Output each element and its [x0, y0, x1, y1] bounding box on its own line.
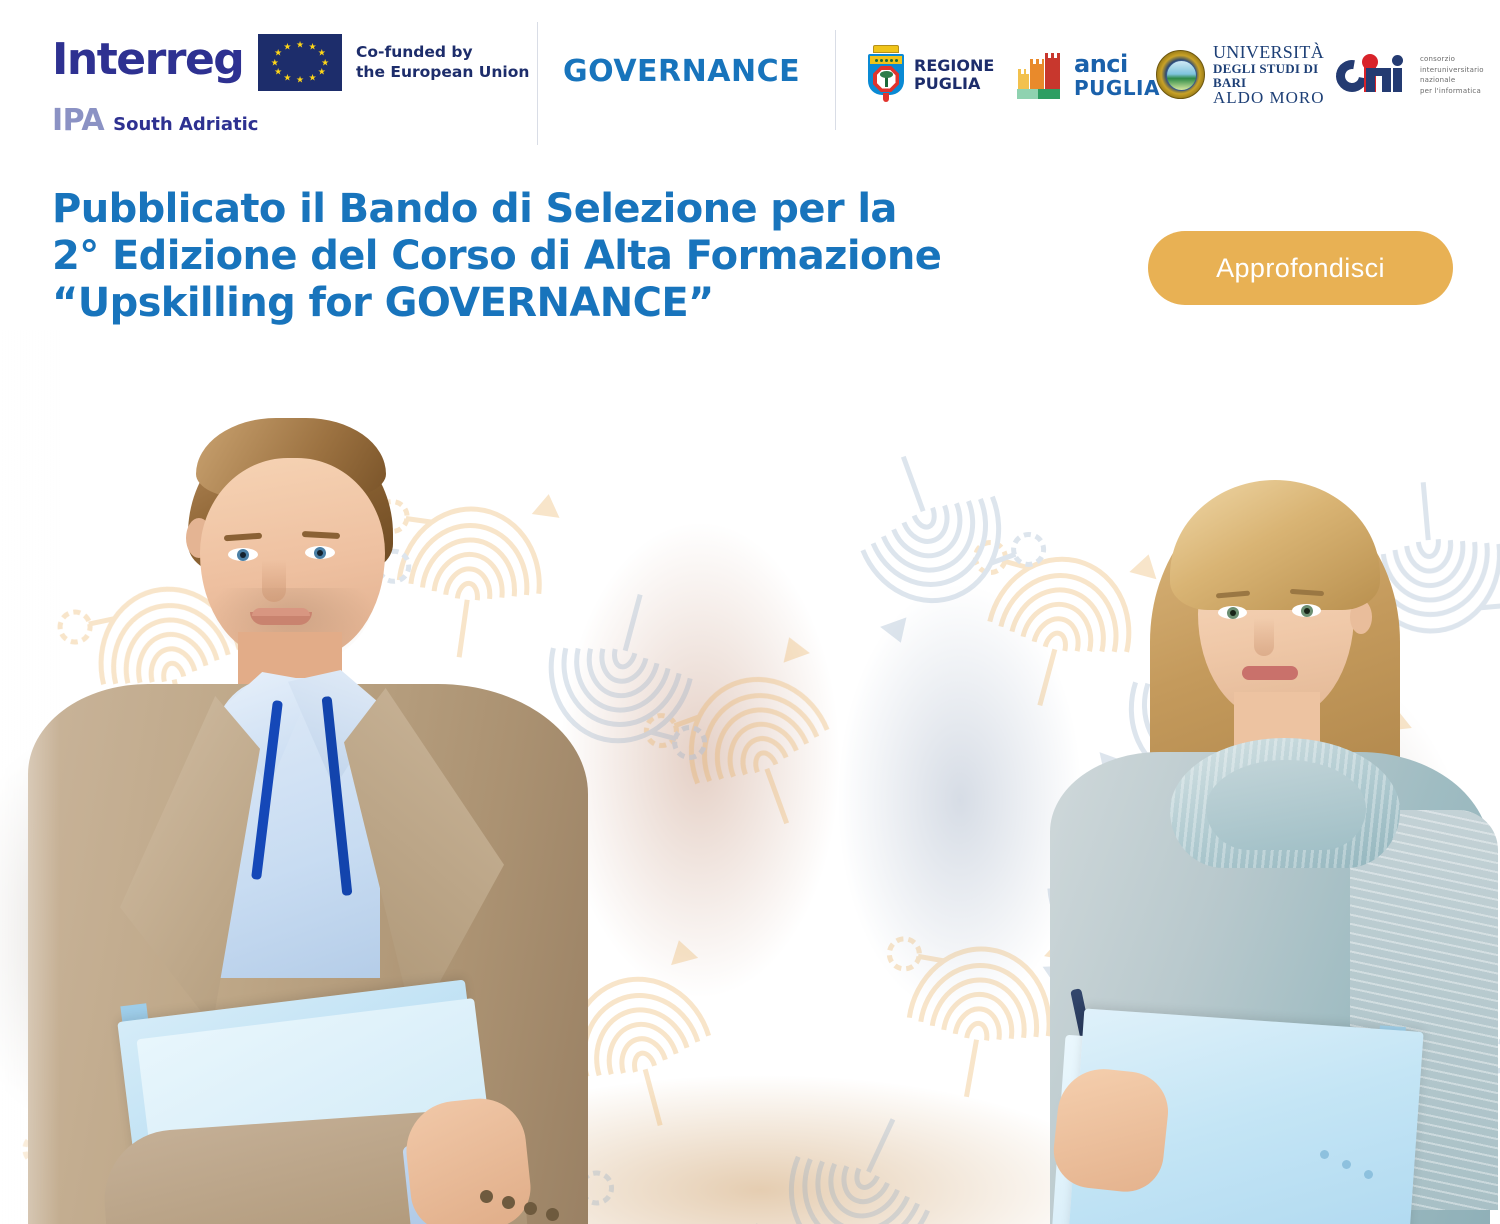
approfondisci-button[interactable]: Approfondisci — [1148, 231, 1453, 305]
hero-image — [0, 0, 1500, 1224]
eu-text-line2: the European Union — [356, 63, 529, 83]
photo-woman — [1020, 460, 1500, 1224]
cini-wordmark-icon — [1336, 52, 1414, 98]
ipa-wordmark: IPA — [52, 106, 104, 136]
man-sleeve-button — [480, 1190, 493, 1203]
cini-sub1: consorzio — [1420, 54, 1484, 65]
partner-logos: REGIONE PUGLIA anci PUGL — [866, 36, 1496, 114]
cini-sub2: interuniversitario — [1420, 65, 1484, 76]
man-sleeve-button — [546, 1208, 559, 1221]
page-header: Interreg IPA South Adriatic ★ ★ ★ ★ ★ ★ … — [0, 0, 1500, 170]
partner-logo-cini: consorzio interuniversitario nazionale p… — [1336, 52, 1496, 98]
anci-line2: PUGLIA — [1074, 78, 1160, 98]
woman-mouth — [1242, 666, 1298, 680]
eu-text-line1: Co-funded by — [356, 43, 529, 63]
man-eye-left — [228, 548, 258, 561]
anci-line1: anci — [1074, 52, 1160, 76]
regione-puglia-line1: REGIONE — [914, 57, 994, 75]
woman-cowl-inner — [1206, 760, 1366, 850]
woman-eye-right — [1292, 604, 1321, 617]
eu-cofunding-logo: ★ ★ ★ ★ ★ ★ ★ ★ ★ ★ ★ ★ Co-funded by the… — [258, 34, 529, 91]
woman-hair-top — [1170, 480, 1380, 610]
cini-sub4: per l'informatica — [1420, 86, 1484, 97]
woman-nose — [1254, 618, 1274, 656]
man-nose — [262, 560, 286, 602]
cini-subtitle: consorzio interuniversitario nazionale p… — [1420, 54, 1484, 96]
man-sleeve-button — [524, 1202, 537, 1215]
page-title: Pubblicato il Bando di Selezione per la … — [52, 186, 1102, 326]
woman-eye-left — [1218, 606, 1247, 619]
logo-row: Interreg IPA South Adriatic ★ ★ ★ ★ ★ ★ … — [0, 0, 1500, 170]
partner-logo-anci-puglia: anci PUGLIA — [1016, 49, 1156, 101]
governance-logo: GOVERNANCE — [563, 57, 800, 87]
ipa-row: IPA South Adriatic — [52, 106, 258, 136]
uniba-line2: DEGLI STUDI DI BARI — [1213, 62, 1336, 89]
regione-puglia-line2: PUGLIA — [914, 75, 994, 93]
uniba-line3: ALDO MORO — [1213, 89, 1336, 107]
woman-folder-dot — [1320, 1150, 1329, 1159]
anci-puglia-text: anci PUGLIA — [1074, 52, 1160, 98]
eu-cofunding-text: Co-funded by the European Union — [356, 43, 529, 83]
man-mouth — [250, 612, 312, 625]
universita-bari-seal-icon — [1156, 50, 1205, 99]
anci-towers-icon — [1016, 49, 1068, 101]
man-sleeve-button — [502, 1196, 515, 1209]
regione-puglia-text: REGIONE PUGLIA — [914, 57, 994, 94]
uniba-line1: UNIVERSITÀ — [1213, 43, 1336, 62]
ipa-subtitle: South Adriatic — [113, 116, 258, 136]
header-divider-1 — [537, 22, 538, 145]
cini-sub3: nazionale — [1420, 75, 1484, 86]
woman-folder-dot — [1342, 1160, 1351, 1169]
man-eye-right — [305, 546, 335, 559]
headline-line-1: Pubblicato il Bando di Selezione per la — [52, 186, 1102, 233]
woman-hand — [1050, 1065, 1172, 1196]
woman-folder-dot — [1364, 1170, 1373, 1179]
partner-logo-regione-puglia: REGIONE PUGLIA — [866, 45, 1016, 105]
headline-line-3: “Upskilling for GOVERNANCE” — [52, 280, 1102, 327]
header-divider-2 — [835, 30, 836, 130]
eu-flag-icon: ★ ★ ★ ★ ★ ★ ★ ★ ★ ★ ★ ★ — [258, 34, 342, 91]
universita-bari-text: UNIVERSITÀ DEGLI STUDI DI BARI ALDO MORO — [1213, 43, 1336, 107]
partner-logo-universita-bari: UNIVERSITÀ DEGLI STUDI DI BARI ALDO MORO — [1156, 43, 1336, 107]
regione-puglia-shield-icon — [866, 45, 906, 105]
photo-man — [10, 400, 610, 1224]
headline-line-2: 2° Edizione del Corso di Alta Formazione — [52, 233, 1102, 280]
